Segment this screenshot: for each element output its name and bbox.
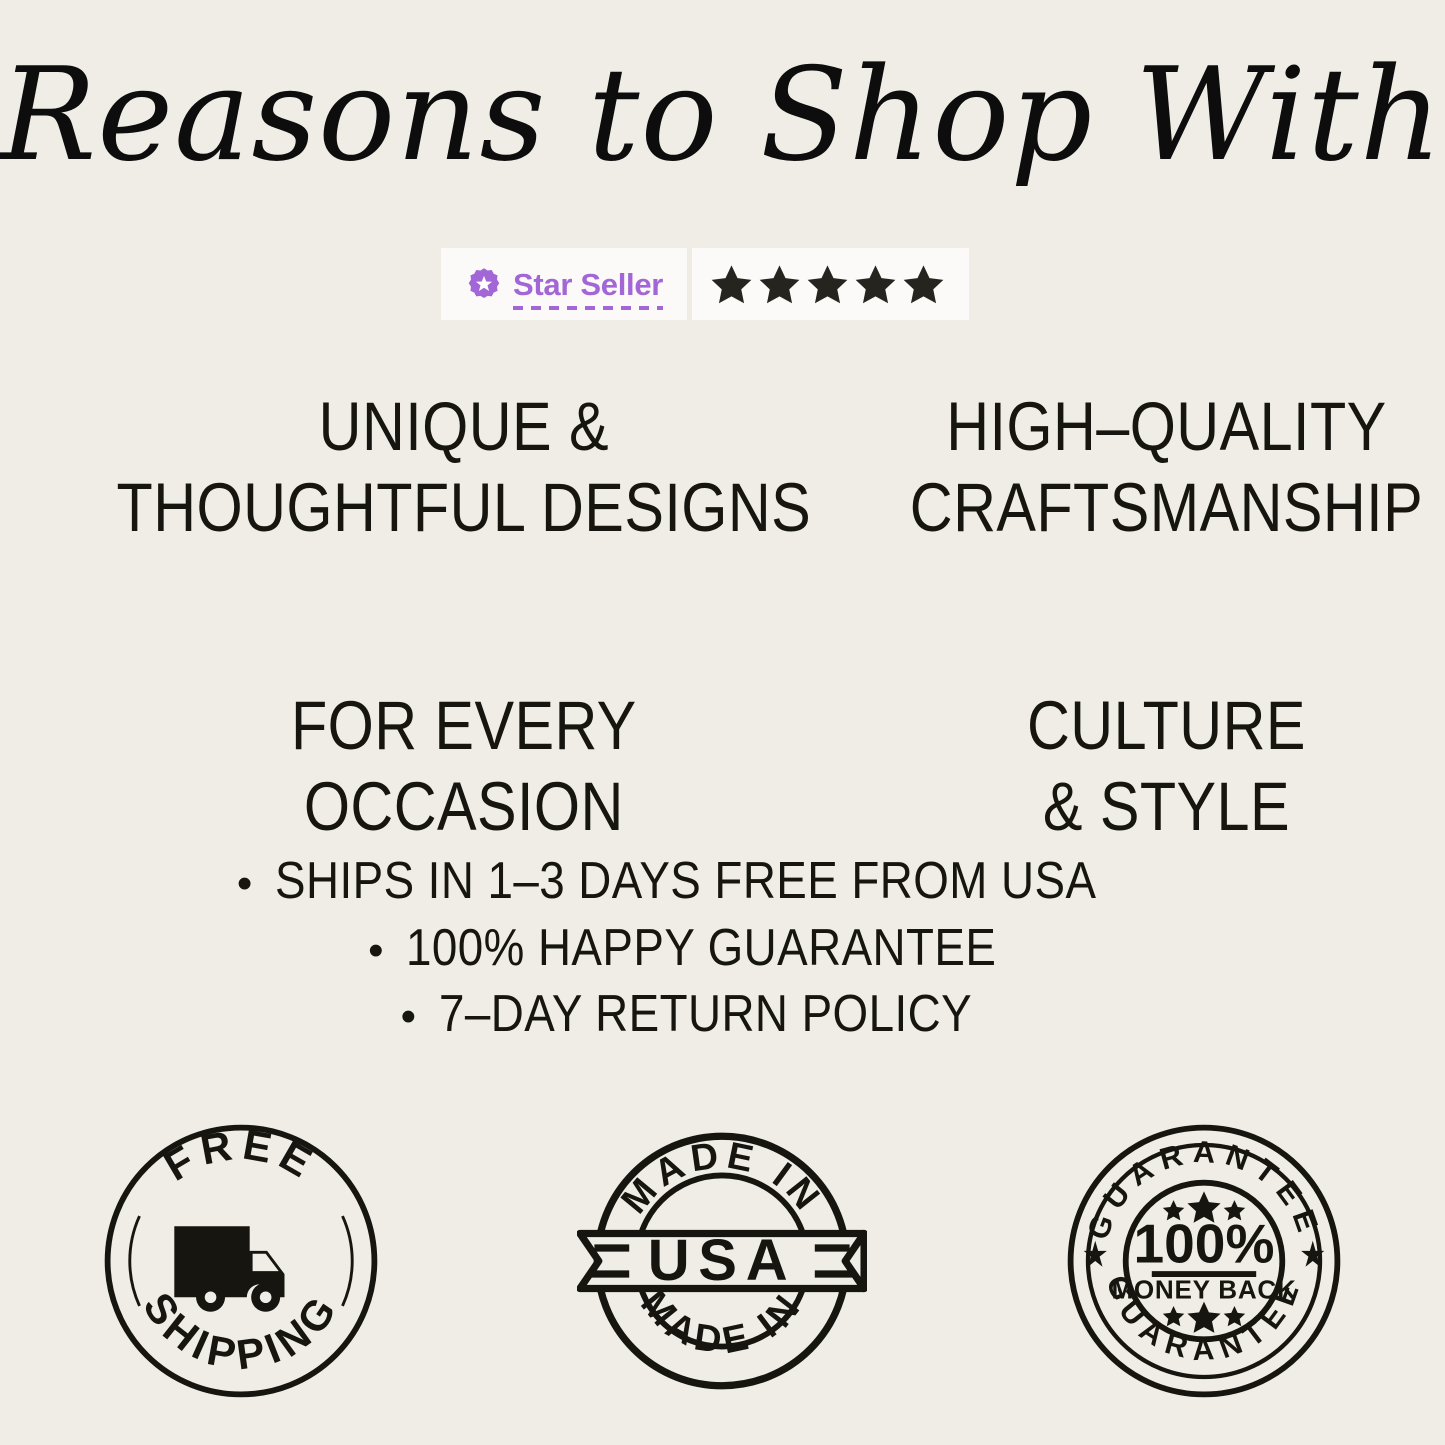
feature-culture-style: CULTURE & STYLE bbox=[909, 685, 1422, 848]
bullet-icon: • bbox=[368, 929, 384, 973]
usa-ribbon: USA bbox=[580, 1228, 864, 1293]
star-icon bbox=[757, 262, 802, 307]
list-item-label: 7–DAY RETURN POLICY bbox=[439, 981, 972, 1048]
star-seller-badge: Star Seller bbox=[441, 248, 969, 320]
feature-line-1: UNIQUE & bbox=[117, 386, 812, 467]
feature-grid: UNIQUE & THOUGHTFUL DESIGNS HIGH–QUALITY… bbox=[60, 386, 1385, 848]
made-in-usa-seal: MADE IN MADE IN USA bbox=[577, 1116, 867, 1406]
star-icon bbox=[805, 262, 850, 307]
star-seller-underline bbox=[513, 306, 663, 310]
feature-line-1: CULTURE bbox=[909, 685, 1422, 766]
guarantee-sub-text: MONEY BACK bbox=[1112, 1275, 1297, 1305]
list-item: • 100% HAPPY GUARANTEE bbox=[368, 915, 1077, 982]
trust-seals: FREE SHIPPING bbox=[0, 1116, 1445, 1406]
feature-line-1: FOR EVERY bbox=[117, 685, 812, 766]
usa-ribbon-text: USA bbox=[648, 1228, 797, 1293]
free-shipping-seal: FREE SHIPPING bbox=[96, 1116, 386, 1406]
bullet-icon: • bbox=[401, 995, 417, 1039]
feature-line-2: OCCASION bbox=[117, 766, 812, 847]
feature-every-occasion: FOR EVERY OCCASION bbox=[117, 685, 812, 848]
feature-high-quality: HIGH–QUALITY CRAFTSMANSHIP bbox=[909, 386, 1422, 549]
feature-line-2: & STYLE bbox=[909, 766, 1422, 847]
star-icon bbox=[709, 262, 754, 307]
star-rosette-icon bbox=[467, 267, 501, 301]
page-title: Reasons to Shop With Us bbox=[0, 42, 1445, 189]
policy-list: • SHIPS IN 1–3 DAYS FREE FROM USA • 100%… bbox=[0, 848, 1445, 1048]
list-item: • SHIPS IN 1–3 DAYS FREE FROM USA bbox=[237, 848, 1208, 915]
guarantee-percent-text: 100% bbox=[1134, 1212, 1275, 1274]
feature-line-2: CRAFTSMANSHIP bbox=[909, 467, 1422, 548]
star-seller-label-group: Star Seller bbox=[441, 248, 687, 320]
feature-unique-designs: UNIQUE & THOUGHTFUL DESIGNS bbox=[117, 386, 812, 549]
star-seller-label: Star Seller bbox=[513, 267, 663, 302]
svg-text:MADE IN: MADE IN bbox=[633, 1283, 811, 1362]
list-item-label: 100% HAPPY GUARANTEE bbox=[406, 915, 996, 982]
delivery-truck-icon bbox=[174, 1226, 284, 1312]
star-seller-text-wrap: Star Seller bbox=[513, 269, 663, 300]
svg-text:SHIPPING: SHIPPING bbox=[134, 1284, 348, 1379]
star-icon bbox=[1188, 1302, 1221, 1333]
star-icon bbox=[901, 262, 946, 307]
feature-line-1: HIGH–QUALITY bbox=[909, 386, 1422, 467]
bullet-icon: • bbox=[237, 862, 253, 906]
feature-line-2: THOUGHTFUL DESIGNS bbox=[117, 467, 812, 548]
made-in-bottom-text: MADE IN bbox=[633, 1283, 811, 1362]
guarantee-seal: GUARANTEE GUARANTEE 100% MONEY BACK bbox=[1059, 1116, 1349, 1406]
promo-graphic: Reasons to Shop With Us Star Seller bbox=[0, 0, 1445, 1445]
free-shipping-bottom-text: SHIPPING bbox=[134, 1284, 348, 1379]
free-shipping-top-text: FREE bbox=[156, 1120, 326, 1189]
svg-text:FREE: FREE bbox=[156, 1120, 326, 1189]
list-item: • 7–DAY RETURN POLICY bbox=[401, 981, 1045, 1048]
list-item-label: SHIPS IN 1–3 DAYS FREE FROM USA bbox=[275, 848, 1096, 915]
rating-stars bbox=[692, 248, 969, 320]
star-icon bbox=[853, 262, 898, 307]
